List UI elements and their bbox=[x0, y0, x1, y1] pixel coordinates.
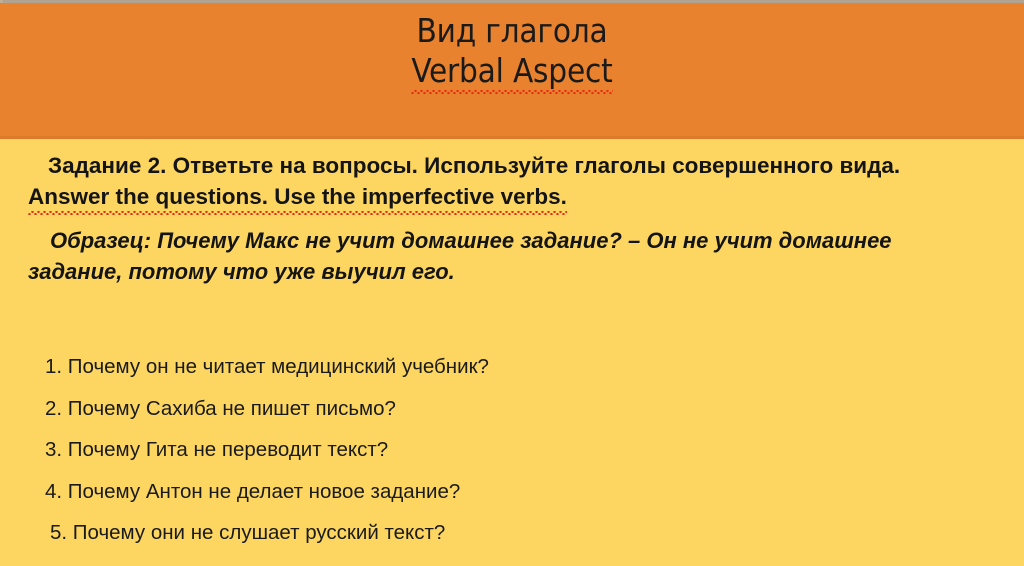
slide-title-block: Вид глагола Verbal Aspect bbox=[0, 11, 1024, 92]
instruction-paragraph: Задание 2. Ответьте на вопросы. Использу… bbox=[28, 150, 978, 213]
question-item-1: 1. Почему он не читает медицинский учебн… bbox=[45, 346, 945, 388]
question-item-3: 3. Почему Гита не переводит текст? bbox=[45, 429, 945, 471]
slide-body: Задание 2. Ответьте на вопросы. Использу… bbox=[0, 139, 1024, 566]
slide-title-english: Verbal Aspect bbox=[411, 51, 612, 92]
slide-canvas: Вид глагола Verbal Aspect Задание 2. Отв… bbox=[0, 0, 1024, 566]
example-text: Образец: Почему Макс не учит домашнее за… bbox=[28, 228, 892, 284]
question-item-4: 4. Почему Антон не делает новое задание? bbox=[45, 471, 945, 513]
instruction-text-english: Answer the questions. Use the imperfecti… bbox=[28, 181, 567, 213]
question-list: 1. Почему он не читает медицинский учебн… bbox=[45, 346, 945, 554]
slide-title-english-wrapper: Verbal Aspect bbox=[0, 51, 1024, 92]
slide-header-banner: Вид глагола Verbal Aspect bbox=[0, 3, 1024, 139]
question-item-5: 5. Почему они не слушает русский текст? bbox=[45, 512, 945, 554]
slide-title-russian: Вид глагола bbox=[0, 11, 1024, 51]
example-paragraph: Образец: Почему Макс не учит домашнее за… bbox=[28, 225, 978, 287]
instruction-text-russian: Задание 2. Ответьте на вопросы. Использу… bbox=[48, 153, 900, 178]
question-item-2: 2. Почему Сахиба не пишет письмо? bbox=[45, 388, 945, 430]
